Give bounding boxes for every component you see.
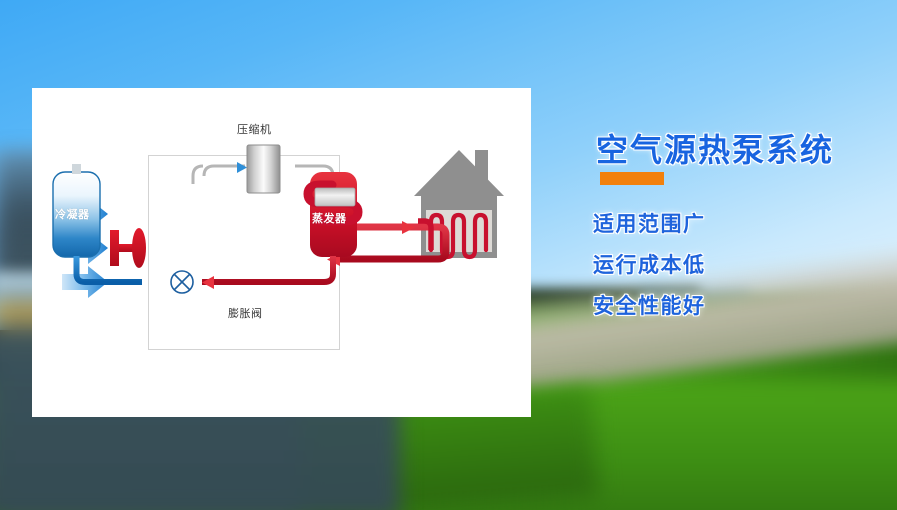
evaporator-plate <box>315 188 355 206</box>
feature-item-2: 运行成本低 <box>593 245 706 286</box>
feature-list: 适用范围广 运行成本低 安全性能好 <box>593 204 706 327</box>
condenser-pipes <box>77 256 143 282</box>
compressor-label: 压缩机 <box>237 121 272 137</box>
page-title: 空气源热泵系统 <box>596 125 834 171</box>
evaporator-outlet-pipe <box>202 256 333 282</box>
condenser-label: 冷凝器 <box>55 206 90 222</box>
slide-canvas: 压缩机 冷凝器 蒸发器 膨胀阀 空气源热泵系统 适用范围广 运行成本低 安全性能… <box>0 0 897 510</box>
expansion-valve-label: 膨胀阀 <box>228 305 263 321</box>
flow-arrow-valve <box>202 276 214 289</box>
feature-item-3: 安全性能好 <box>593 286 706 327</box>
flow-arrow-suction <box>237 162 247 173</box>
house-icon <box>414 150 504 258</box>
expansion-valve-icon <box>171 271 193 293</box>
compressor-unit <box>247 145 280 193</box>
feature-item-1: 适用范围广 <box>593 204 706 245</box>
evaporator-label: 蒸发器 <box>312 210 347 226</box>
title-accent-bar <box>600 172 664 185</box>
flow-arrow-supply <box>402 221 415 234</box>
diagram-card: 压缩机 冷凝器 蒸发器 膨胀阀 <box>32 88 531 417</box>
condenser-neck <box>72 164 81 174</box>
refrigeration-cycle-diagram <box>32 88 531 417</box>
